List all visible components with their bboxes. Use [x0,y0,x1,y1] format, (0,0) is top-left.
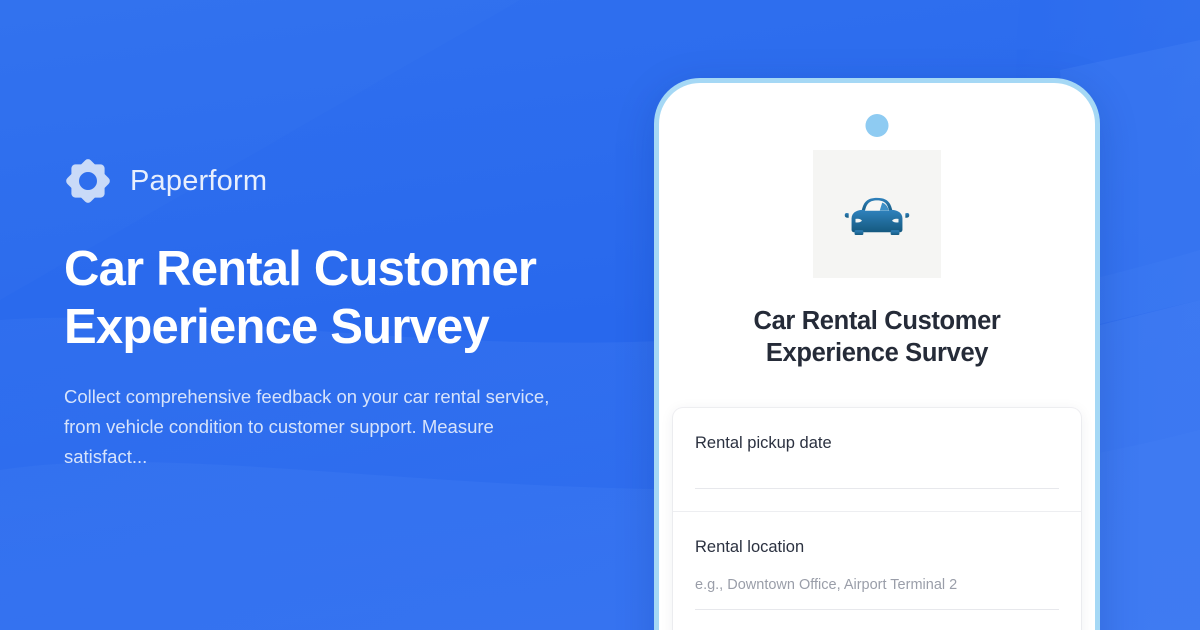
field-label: Rental location [695,536,1059,558]
brand-name: Paperform [130,165,267,198]
page-title: Car Rental Customer Experience Survey [64,241,594,356]
paperform-star-logo-icon [64,157,112,205]
form-title: Car Rental Customer Experience Survey [659,305,1095,369]
car-emoji-icon [840,177,914,251]
form-field-rental-location[interactable]: Rental location e.g., Downtown Office, A… [673,511,1081,610]
hero-content: Paperform Car Rental Customer Experience… [64,0,664,630]
field-label: Rental pickup date [695,432,1059,454]
form-field-rental-pickup-date[interactable]: Rental pickup date [673,408,1081,489]
brand-lockup: Paperform [64,157,664,205]
input-placeholder: e.g., Downtown Office, Airport Terminal … [695,577,957,593]
hero-description: Collect comprehensive feedback on your c… [64,382,579,473]
text-input[interactable]: e.g., Downtown Office, Airport Terminal … [695,575,1059,610]
form-card: Rental pickup date Rental location e.g.,… [673,408,1081,630]
phone-mockup: Car Rental Customer Experience Survey Re… [654,78,1100,630]
camera-dot-icon [866,114,889,137]
date-input[interactable] [695,488,1059,489]
form-cover-image [813,150,941,278]
